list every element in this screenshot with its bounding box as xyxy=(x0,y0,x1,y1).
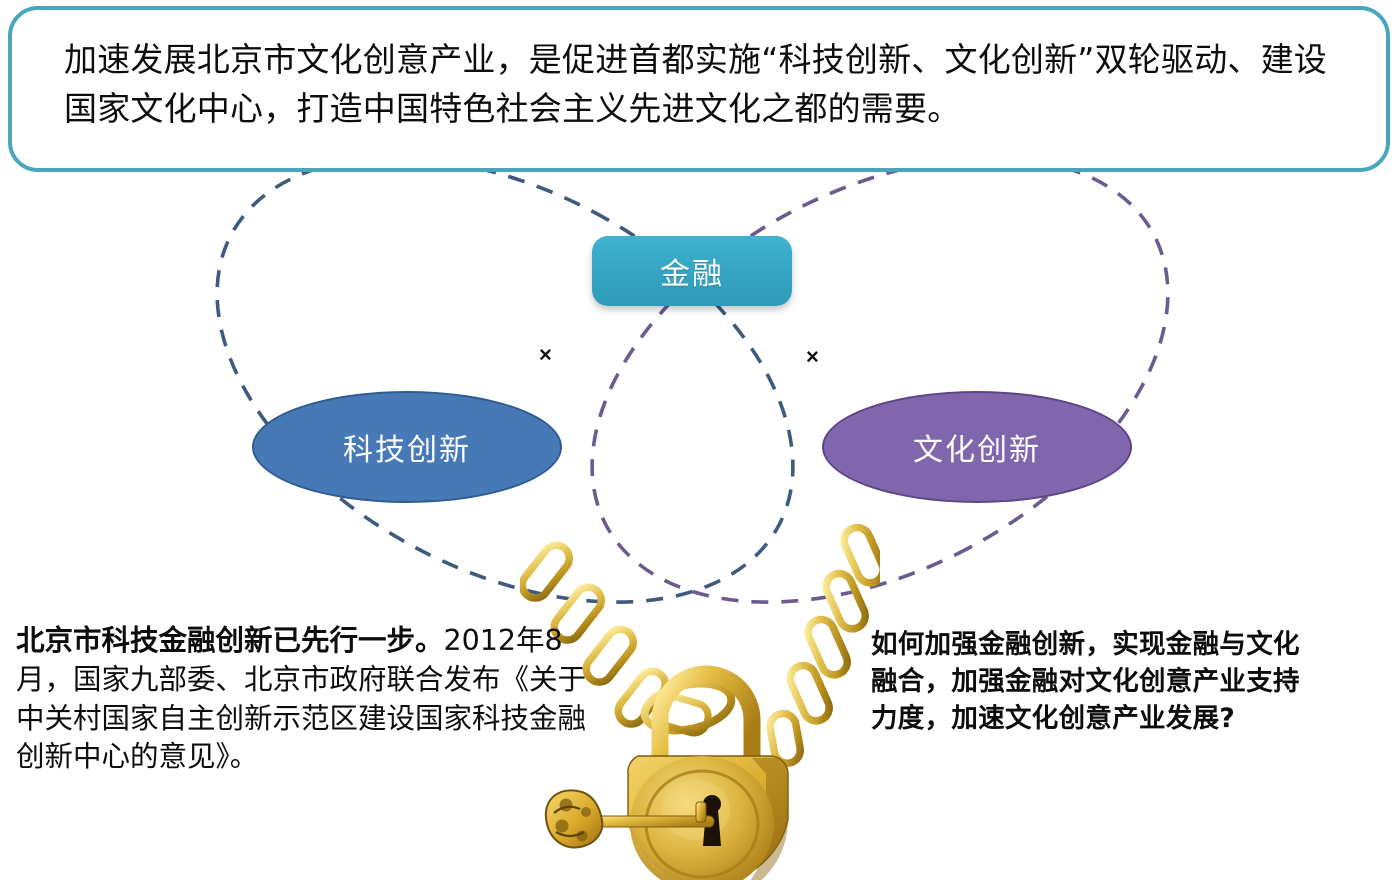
left-note-lead: 北京市科技金融创新已先行一步。 xyxy=(16,624,444,657)
node-finance-label: 金融 xyxy=(660,249,724,293)
header-statement-text: 加速发展北京市文化创意产业，是促进首都实施“科技创新、文化创新”双轮驱动、建设国… xyxy=(64,36,1354,134)
node-culture-innovation[interactable]: 文化创新 xyxy=(822,391,1132,503)
chain-right xyxy=(768,524,880,765)
node-tech-innovation-label: 科技创新 xyxy=(343,425,471,469)
node-culture-innovation-label: 文化创新 xyxy=(913,425,1041,469)
multiply-left-icon: × xyxy=(539,344,552,366)
left-note-block: 北京市科技金融创新已先行一步。2012年8月，国家九部委、北京市政府联合发布《关… xyxy=(16,622,596,777)
node-tech-innovation[interactable]: 科技创新 xyxy=(252,391,562,503)
multiply-right-icon: × xyxy=(806,346,819,368)
node-finance[interactable]: 金融 xyxy=(592,236,792,306)
right-note-block: 如何加强金融创新，实现金融与文化融合，加强金融对文化创意产业支持力度，加速文化创… xyxy=(871,626,1321,737)
header-callout-box: 加速发展北京市文化创意产业，是促进首都实施“科技创新、文化创新”双轮驱动、建设国… xyxy=(8,6,1390,172)
